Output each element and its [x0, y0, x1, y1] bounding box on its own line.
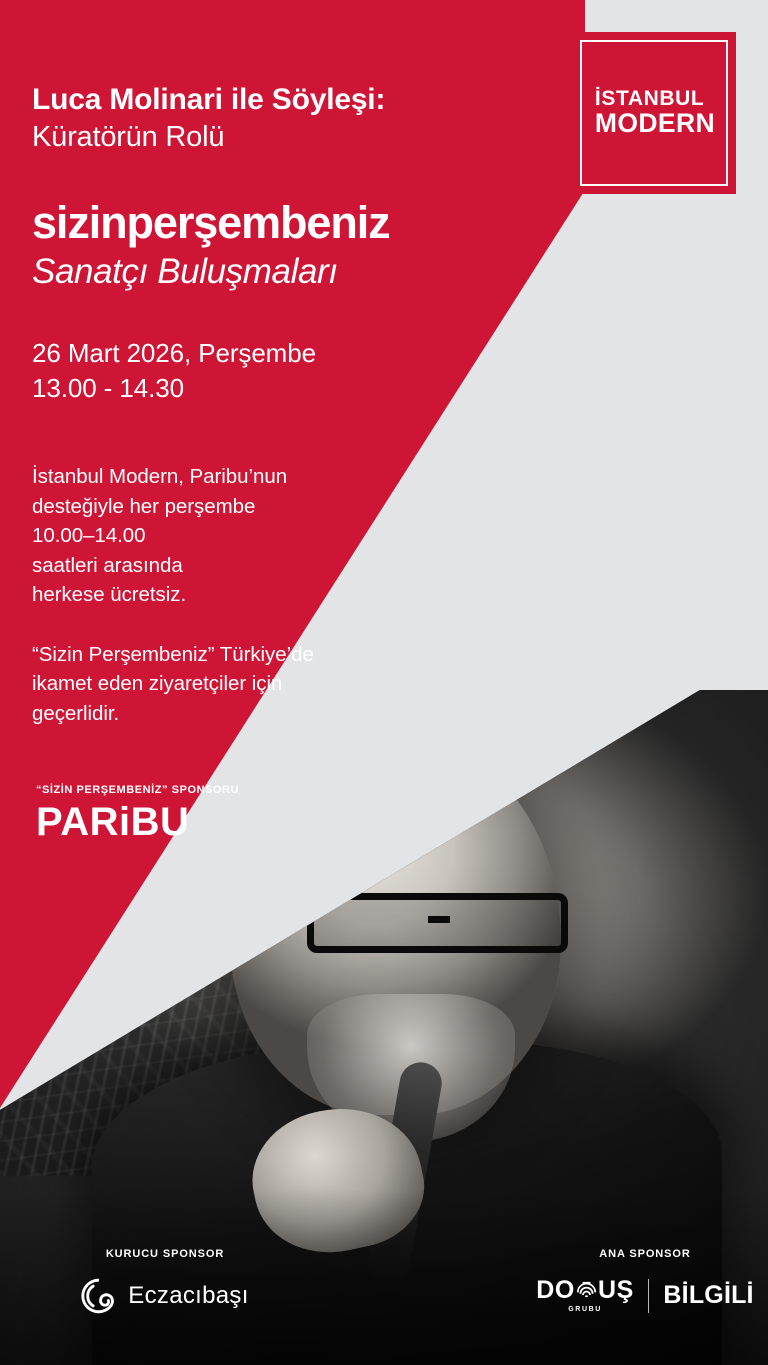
main-sponsor-block[interactable]: ANA SPONSOR DO UŞ GRUBU BİLGİLİ: [520, 1248, 768, 1313]
dogus-logo-text-start: DO: [536, 1278, 575, 1303]
founding-sponsor-logo-row: Eczacıbaşı: [40, 1278, 290, 1314]
eczacibasi-logo-text: Eczacıbaşı: [128, 1284, 248, 1308]
info-paragraph-1-line-2: desteğiyle her perşembe: [32, 492, 502, 522]
info-paragraph-1-line-4: saatleri arasında: [32, 551, 502, 581]
dogus-logo-subtext: GRUBU: [568, 1306, 602, 1313]
founding-sponsor-caption: KURUCU SPONSOR: [40, 1248, 290, 1260]
paribu-logo-text: PARiBU: [36, 802, 266, 842]
istanbul-modern-logo-line-2: MODERN: [595, 110, 715, 138]
eczacibasi-swirl-icon: [81, 1278, 117, 1314]
info-paragraph-2-line-3: geçerlidir.: [32, 699, 502, 729]
info-paragraph-1-line-1: İstanbul Modern, Paribu’nun: [32, 462, 502, 492]
sponsor-logo-divider: [648, 1279, 650, 1313]
program-brand-subtitle: Sanatçı Buluşmaları: [32, 252, 502, 291]
istanbul-modern-logo-line-1: İSTANBUL: [595, 88, 715, 110]
main-sponsor-logo-row: DO UŞ GRUBU BİLGİLİ: [520, 1278, 768, 1313]
info-paragraph-free-entry: İstanbul Modern, Paribu’nun desteğiyle h…: [32, 462, 502, 610]
event-datetime: 26 Mart 2026, Perşembe 13.00 - 14.30: [32, 336, 502, 407]
dogus-logo-text-end: UŞ: [598, 1278, 634, 1303]
headline-line-1: Luca Molinari ile Söyleşi:: [32, 80, 502, 119]
founding-sponsor-block[interactable]: KURUCU SPONSOR Eczacıbaşı: [40, 1248, 290, 1314]
info-paragraph-1-line-5: herkese ücretsiz.: [32, 580, 502, 610]
poster-content: Luca Molinari ile Söyleşi: Küratörün Rol…: [32, 0, 502, 728]
info-paragraph-2-line-2: ikamet eden ziyaretçiler için: [32, 669, 502, 699]
event-time: 13.00 - 14.30: [32, 371, 502, 406]
headline-line-2: Küratörün Rolü: [32, 119, 502, 157]
info-paragraph-2-line-1: “Sizin Perşembeniz” Türkiye’de: [32, 640, 502, 670]
bilgili-logo-text: BİLGİLİ: [663, 1283, 753, 1308]
event-headline: Luca Molinari ile Söyleşi: Küratörün Rol…: [32, 80, 502, 157]
info-paragraph-1-line-3: 10.00–14.00: [32, 521, 502, 551]
program-brand-title: sizinperşembeniz: [32, 199, 502, 247]
info-paragraph-eligibility: “Sizin Perşembeniz” Türkiye’de ikamet ed…: [32, 640, 502, 729]
dogus-fingerprint-icon: [576, 1281, 597, 1302]
paribu-sponsor-caption: “SİZİN PERŞEMBENİZ” SPONSORU: [36, 784, 266, 796]
main-sponsor-caption: ANA SPONSOR: [520, 1248, 768, 1260]
istanbul-modern-logo[interactable]: İSTANBUL MODERN: [572, 32, 736, 194]
dogus-logo-wordmark: DO UŞ: [536, 1278, 634, 1303]
paribu-sponsor-block[interactable]: “SİZİN PERŞEMBENİZ” SPONSORU PARiBU: [36, 784, 266, 842]
dogus-grubu-logo: DO UŞ GRUBU: [536, 1278, 634, 1313]
eczacibasi-logo: Eczacıbaşı: [81, 1278, 248, 1314]
event-date: 26 Mart 2026, Perşembe: [32, 336, 502, 371]
event-poster: İSTANBUL MODERN Luca Molinari ile Söyleş…: [0, 0, 768, 1365]
istanbul-modern-logo-text: İSTANBUL MODERN: [593, 88, 715, 137]
